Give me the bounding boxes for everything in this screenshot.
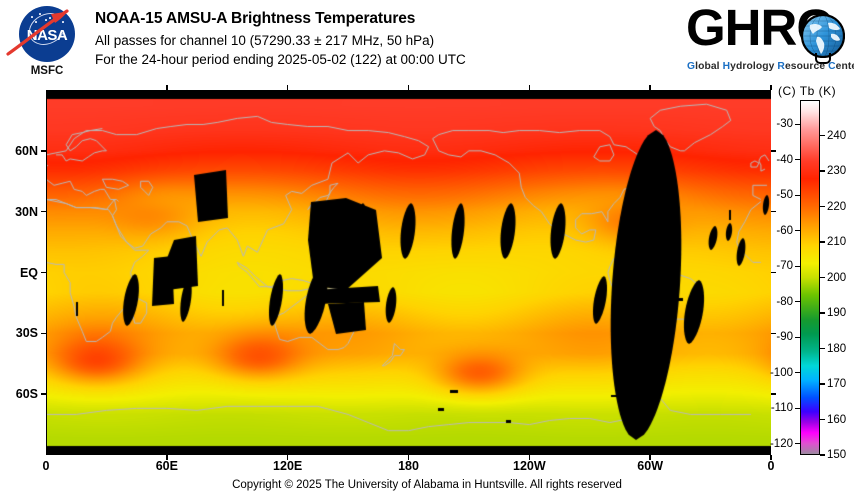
y-tick-right: [771, 150, 776, 151]
y-axis-label: 60N: [15, 144, 38, 158]
colorbar-label-celsius: -110: [771, 402, 793, 414]
colorbar: [800, 100, 820, 455]
colorbar-label-kelvin: 180: [827, 343, 846, 355]
brightness-temperature-map: [46, 90, 771, 455]
colorbar-tick-celsius: [795, 408, 800, 409]
colorbar-tick-celsius: [795, 195, 800, 196]
x-axis-label: 120E: [273, 459, 302, 473]
x-axis-label: 180: [398, 459, 419, 473]
y-tick-right: [771, 211, 776, 212]
ghrc-logo: GHRC: [684, 6, 850, 78]
x-tick-top: [287, 85, 288, 90]
ghrc-sub-c: C: [828, 61, 836, 72]
ghrc-sub-lobal: lobal: [695, 61, 723, 72]
y-axis-label: 30N: [15, 205, 38, 219]
x-tick-top: [649, 85, 650, 90]
title-block: NOAA-15 AMSU-A Brightness Temperatures A…: [95, 10, 466, 67]
colorbar-label-kelvin: 150: [827, 449, 846, 461]
colorbar-tick-celsius: [795, 266, 800, 267]
colorbar-tick-kelvin: [820, 348, 825, 349]
colorbar-tick-kelvin: [820, 206, 825, 207]
colorbar-label-celsius: -40: [776, 154, 793, 166]
colorbar-tick-kelvin: [820, 383, 825, 384]
x-tick-top: [770, 85, 771, 90]
colorbar-tick-kelvin: [820, 454, 825, 455]
x-axis-label: 0: [768, 459, 775, 473]
y-tick: [41, 393, 46, 394]
colorbar-label-kelvin: 200: [827, 272, 846, 284]
colorbar-tick-celsius: [795, 372, 800, 373]
y-axis-label: 30S: [16, 326, 38, 340]
colorbar-label-celsius: -90: [776, 331, 793, 343]
colorbar-tick-celsius: [795, 124, 800, 125]
colorbar-tick-kelvin: [820, 170, 825, 171]
y-axis-label: EQ: [20, 266, 38, 280]
x-tick-top: [166, 85, 167, 90]
title-subtitle-period: For the 24-hour period ending 2025-05-02…: [95, 52, 466, 67]
colorbar-tick-kelvin: [820, 312, 825, 313]
y-tick: [41, 333, 46, 334]
colorbar-label-celsius: -60: [776, 225, 793, 237]
colorbar-label-celsius: -50: [776, 189, 793, 201]
colorbar-label-celsius: -100: [770, 367, 793, 379]
colorbar-label-kelvin: 210: [827, 236, 846, 248]
nasa-center-label: MSFC: [8, 65, 86, 77]
title-subtitle-channel: All passes for channel 10 (57290.33 ± 21…: [95, 33, 466, 48]
map-heatmap-canvas: [46, 90, 771, 455]
ghrc-sub-esource: esource: [785, 61, 828, 72]
colorbar-label-kelvin: 160: [827, 414, 846, 426]
colorbar-label-celsius: -70: [776, 260, 793, 272]
page-header: NASA MSFC NOAA-15 AMSU-A Brightness Temp…: [0, 0, 854, 86]
ghrc-sub-enter: enter: [836, 61, 854, 72]
ghrc-sub-ydrology: ydrology: [730, 61, 777, 72]
colorbar-tick-kelvin: [820, 277, 825, 278]
colorbar-tick-celsius: [795, 337, 800, 338]
colorbar-label-kelvin: 190: [827, 307, 846, 319]
nasa-swoosh-icon: [5, 8, 71, 58]
x-tick-top: [529, 85, 530, 90]
nasa-meatball-logo: NASA MSFC: [8, 4, 86, 84]
colorbar-tick-kelvin: [820, 419, 825, 420]
y-axis-label: 60S: [16, 387, 38, 401]
colorbar-tick-celsius: [795, 230, 800, 231]
colorbar-label-celsius: -30: [776, 118, 793, 130]
colorbar-gradient: [800, 100, 820, 455]
colorbar-tick-celsius: [795, 443, 800, 444]
x-tick-top: [408, 85, 409, 90]
copyright-notice: Copyright © 2025 The University of Alaba…: [0, 479, 854, 491]
colorbar-tick-kelvin: [820, 241, 825, 242]
colorbar-label-kelvin: 220: [827, 201, 846, 213]
y-tick-right: [771, 393, 776, 394]
y-tick: [41, 211, 46, 212]
x-axis-label: 60E: [156, 459, 178, 473]
colorbar-label-celsius: -80: [776, 296, 793, 308]
page-title: NOAA-15 AMSU-A Brightness Temperatures: [95, 10, 466, 28]
colorbar-label-celsius: -120: [770, 438, 793, 450]
colorbar-tick-kelvin: [820, 135, 825, 136]
x-axis-label: 60W: [637, 459, 663, 473]
ghrc-subtitle: Global Hydrology Resource Center: [687, 61, 854, 72]
globe-icon: [801, 14, 845, 58]
colorbar-label-kelvin: 230: [827, 165, 846, 177]
y-tick: [41, 272, 46, 273]
ghrc-sub-r: R: [777, 61, 785, 72]
x-axis-label: 120W: [513, 459, 546, 473]
y-tick-right: [771, 333, 776, 334]
y-tick: [41, 150, 46, 151]
x-axis-label: 0: [43, 459, 50, 473]
colorbar-caption: (C) Tb (K): [778, 84, 836, 98]
ghrc-sub-g: G: [687, 61, 695, 72]
colorbar-tick-celsius: [795, 159, 800, 160]
y-tick-right: [771, 272, 776, 273]
colorbar-tick-celsius: [795, 301, 800, 302]
colorbar-label-kelvin: 240: [827, 130, 846, 142]
colorbar-label-kelvin: 170: [827, 378, 846, 390]
